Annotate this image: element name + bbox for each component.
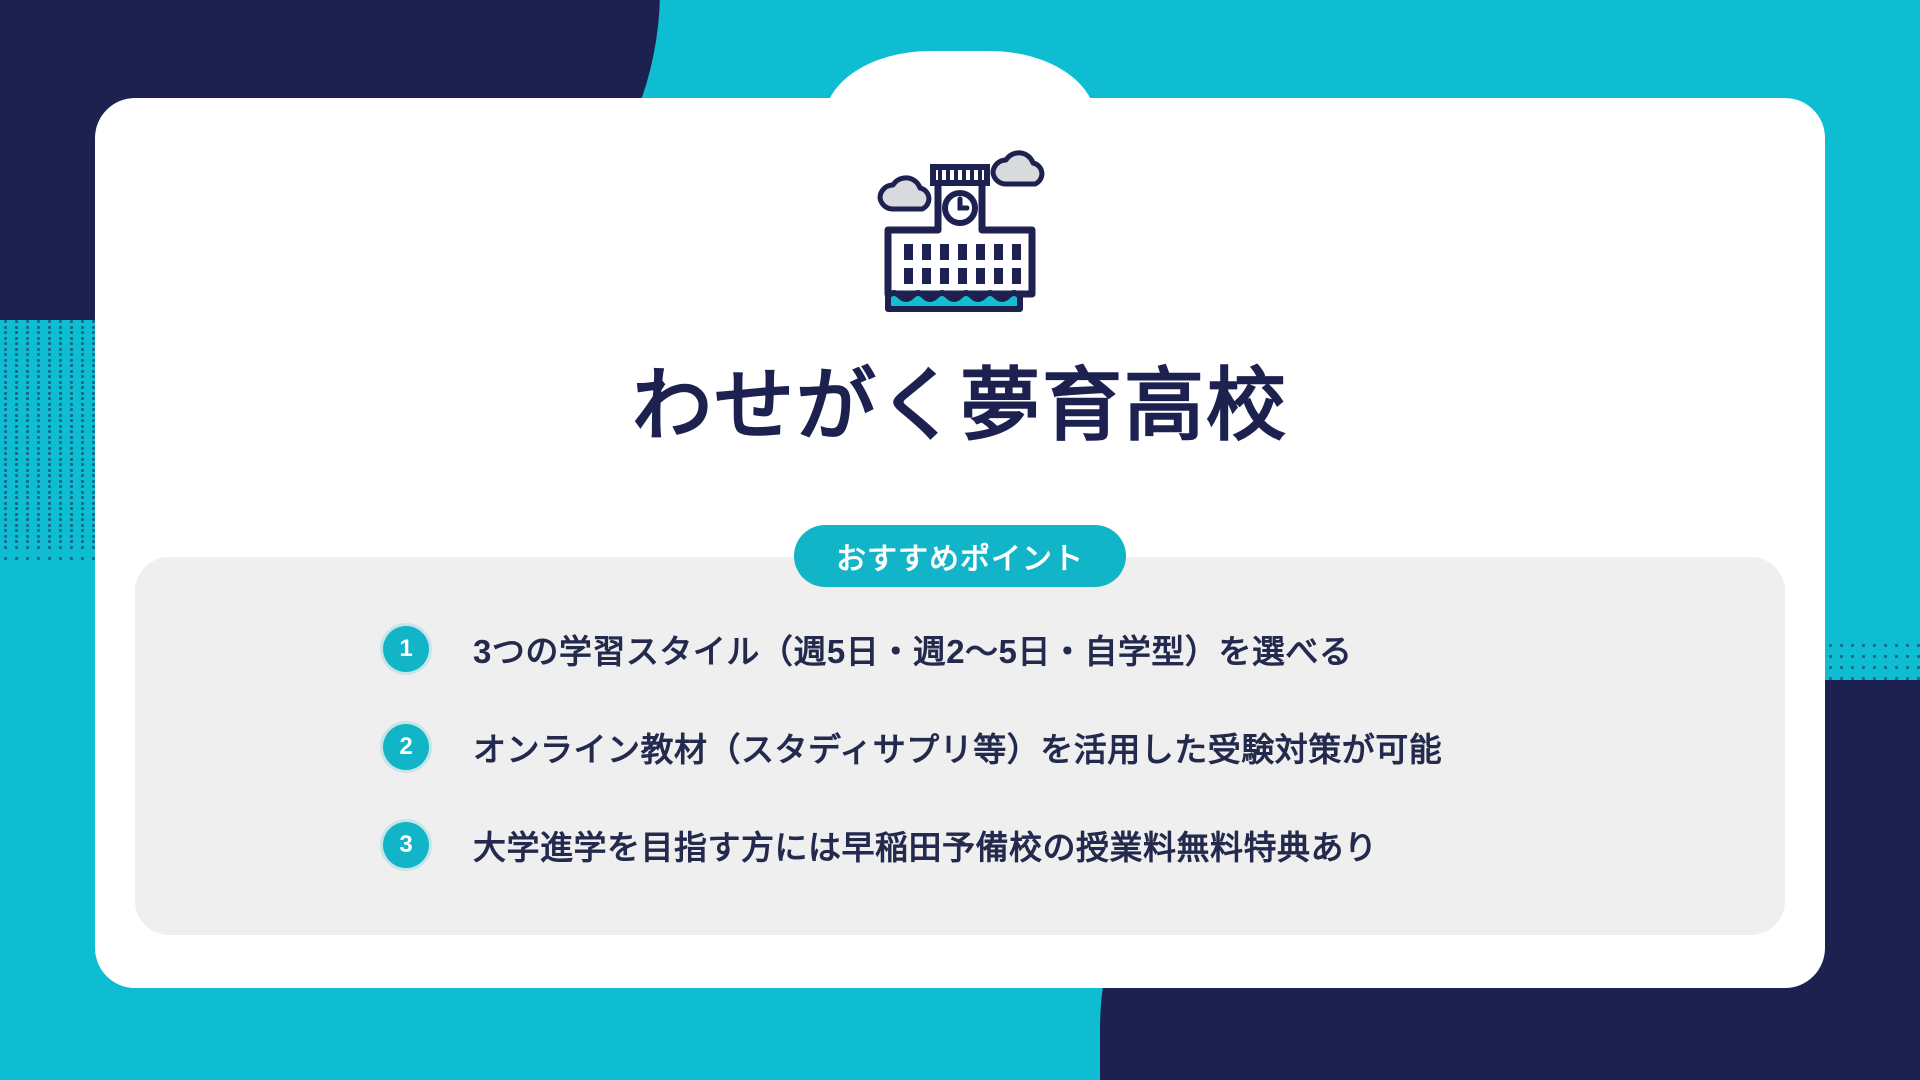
point-number-badge: 2 bbox=[383, 724, 429, 770]
slide-canvas: わせがく夢育高校 おすすめポイント 1 3つの学習スタイル（週5日・週2〜5日・… bbox=[0, 0, 1920, 1080]
point-number-badge: 1 bbox=[383, 626, 429, 672]
school-building-icon bbox=[860, 146, 1060, 316]
point-text: 大学進学を目指す方には早稲田予備校の授業料無料特典あり bbox=[473, 821, 1378, 869]
list-item: 1 3つの学習スタイル（週5日・週2〜5日・自学型）を選べる bbox=[383, 618, 1733, 680]
list-item: 2 オンライン教材（スタディサプリ等）を活用した受験対策が可能 bbox=[383, 716, 1733, 778]
list-item: 3 大学進学を目指す方には早稲田予備校の授業料無料特典あり bbox=[383, 814, 1733, 876]
page-title: わせがく夢育高校 bbox=[0, 362, 1920, 450]
recommended-points-badge: おすすめポイント bbox=[794, 525, 1126, 587]
points-list: 1 3つの学習スタイル（週5日・週2〜5日・自学型）を選べる 2 オンライン教材… bbox=[383, 618, 1733, 876]
point-text: オンライン教材（スタディサプリ等）を活用した受験対策が可能 bbox=[473, 723, 1442, 771]
cloud-right bbox=[993, 153, 1042, 184]
cloud-left bbox=[880, 178, 929, 209]
point-text: 3つの学習スタイル（週5日・週2〜5日・自学型）を選べる bbox=[473, 625, 1352, 673]
point-number-badge: 3 bbox=[383, 822, 429, 868]
